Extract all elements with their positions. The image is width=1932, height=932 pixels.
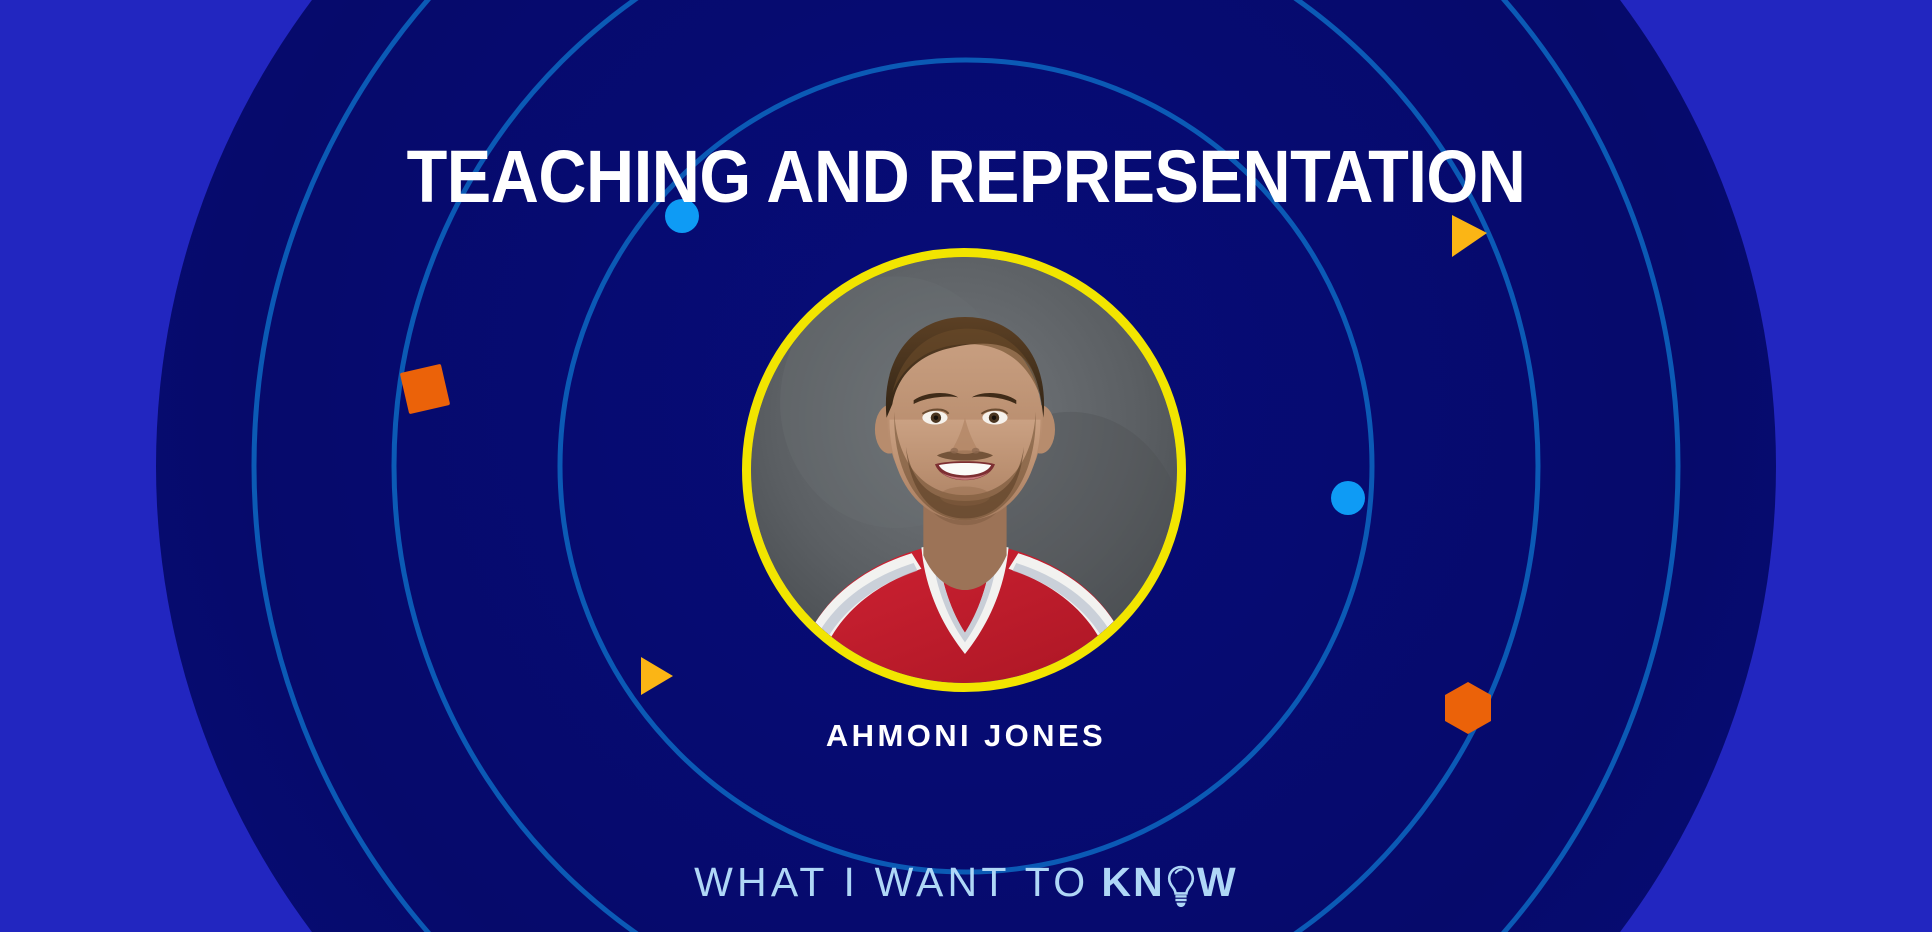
logo-know-wordmark: KN W xyxy=(1101,858,1238,906)
portrait-image xyxy=(751,257,1177,683)
slide-canvas: TEACHING AND REPRESENTATION xyxy=(0,0,1932,932)
speaker-name: AHMONI JONES xyxy=(0,718,1932,754)
lightbulb-icon xyxy=(1166,864,1196,908)
cyan-dot-right-icon xyxy=(1331,481,1365,515)
logo-light-text: WHAT I WANT TO xyxy=(694,858,1089,906)
brand-logo: WHAT I WANT TO KN W xyxy=(0,858,1932,906)
portrait-illustration xyxy=(751,257,1177,683)
page-title: TEACHING AND REPRESENTATION xyxy=(97,138,1836,216)
logo-bold-prefix: KN xyxy=(1101,858,1165,906)
speaker-portrait xyxy=(742,248,1186,692)
logo-bold-suffix: W xyxy=(1197,858,1238,906)
